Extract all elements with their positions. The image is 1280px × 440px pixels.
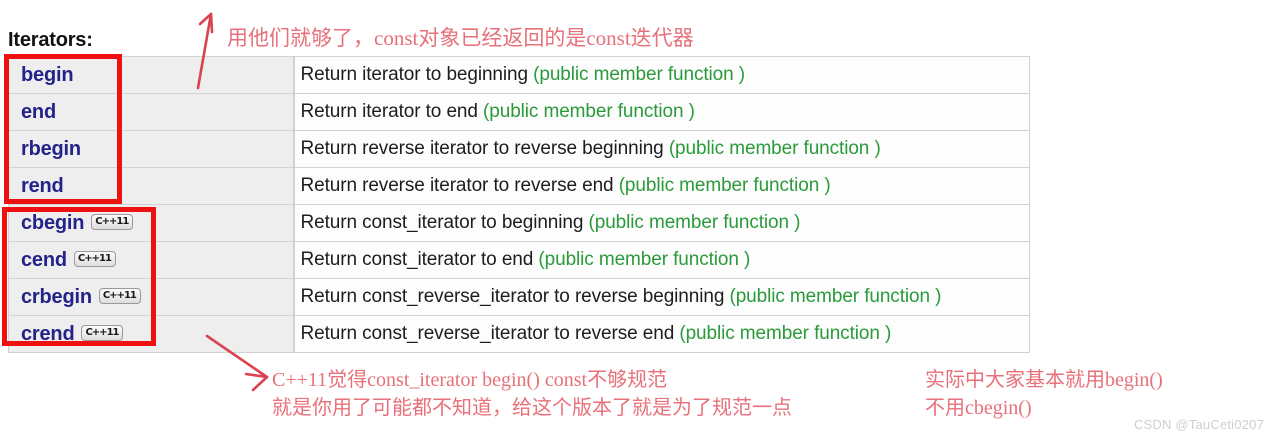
function-link-end[interactable]: end bbox=[21, 101, 56, 123]
description-text: Return iterator to end bbox=[301, 101, 484, 122]
description-meta: (public member function ) bbox=[669, 138, 881, 159]
table-row[interactable]: crendC++11 Return const_reverse_iterator… bbox=[9, 316, 1030, 353]
description-text: Return iterator to beginning bbox=[301, 64, 534, 85]
table-cell-description: Return const_iterator to end (public mem… bbox=[294, 242, 1030, 279]
table-row[interactable]: cbeginC++11 Return const_iterator to beg… bbox=[9, 205, 1030, 242]
description-text: Return const_reverse_iterator to reverse… bbox=[301, 323, 680, 344]
description-meta: (public member function ) bbox=[538, 249, 750, 270]
table-row[interactable]: end Return iterator to end (public membe… bbox=[9, 94, 1030, 131]
description-meta: (public member function ) bbox=[589, 212, 801, 233]
table-cell-function-name[interactable]: end bbox=[9, 94, 294, 131]
table-body: begin Return iterator to beginning (publ… bbox=[9, 57, 1030, 353]
annotation-note-bottom: C++11觉得const_iterator begin() const不够规范 … bbox=[272, 367, 792, 422]
description-text: Return const_reverse_iterator to reverse… bbox=[301, 286, 730, 307]
table-cell-function-name[interactable]: cbeginC++11 bbox=[9, 205, 294, 242]
page-title: Iterators: bbox=[8, 29, 93, 52]
table-row[interactable]: begin Return iterator to beginning (publ… bbox=[9, 57, 1030, 94]
cpp11-badge-icon: C++11 bbox=[99, 288, 141, 304]
function-link-rbegin[interactable]: rbegin bbox=[21, 138, 81, 160]
cpp11-badge-icon: C++11 bbox=[74, 251, 116, 267]
annotation-note-top: 用他们就够了，const对象已经返回的是const迭代器 bbox=[227, 24, 694, 53]
table-cell-description: Return const_reverse_iterator to reverse… bbox=[294, 316, 1030, 353]
function-link-crend[interactable]: crend bbox=[21, 323, 74, 345]
description-text: Return const_iterator to end bbox=[301, 249, 539, 270]
function-link-crbegin[interactable]: crbegin bbox=[21, 286, 92, 308]
annotation-note-right: 实际中大家基本就用begin() 不用cbegin() bbox=[925, 367, 1163, 422]
function-link-begin[interactable]: begin bbox=[21, 64, 73, 86]
function-link-cbegin[interactable]: cbegin bbox=[21, 212, 84, 234]
table-cell-description: Return const_reverse_iterator to reverse… bbox=[294, 279, 1030, 316]
function-link-cend[interactable]: cend bbox=[21, 249, 67, 271]
description-text: Return reverse iterator to reverse end bbox=[301, 175, 619, 196]
table-cell-function-name[interactable]: rbegin bbox=[9, 131, 294, 168]
description-meta: (public member function ) bbox=[533, 64, 745, 85]
description-text: Return const_iterator to beginning bbox=[301, 212, 589, 233]
cpp11-badge-icon: C++11 bbox=[91, 214, 133, 230]
description-meta: (public member function ) bbox=[679, 323, 891, 344]
cpp11-badge-icon: C++11 bbox=[81, 325, 123, 341]
table-cell-description: Return const_iterator to beginning (publ… bbox=[294, 205, 1030, 242]
description-meta: (public member function ) bbox=[729, 286, 941, 307]
table-cell-function-name[interactable]: crendC++11 bbox=[9, 316, 294, 353]
table-cell-function-name[interactable]: crbeginC++11 bbox=[9, 279, 294, 316]
table-cell-description: Return reverse iterator to reverse begin… bbox=[294, 131, 1030, 168]
table-row[interactable]: rbegin Return reverse iterator to revers… bbox=[9, 131, 1030, 168]
watermark: CSDN @TauCeti0207 bbox=[1134, 417, 1264, 432]
table-cell-function-name[interactable]: begin bbox=[9, 57, 294, 94]
table-cell-description: Return reverse iterator to reverse end (… bbox=[294, 168, 1030, 205]
table-cell-description: Return iterator to end (public member fu… bbox=[294, 94, 1030, 131]
iterators-reference-table: begin Return iterator to beginning (publ… bbox=[8, 56, 1030, 353]
table-cell-description: Return iterator to beginning (public mem… bbox=[294, 57, 1030, 94]
table-row[interactable]: rend Return reverse iterator to reverse … bbox=[9, 168, 1030, 205]
table-row[interactable]: crbeginC++11 Return const_reverse_iterat… bbox=[9, 279, 1030, 316]
table-cell-function-name[interactable]: rend bbox=[9, 168, 294, 205]
table-row[interactable]: cendC++11 Return const_iterator to end (… bbox=[9, 242, 1030, 279]
description-meta: (public member function ) bbox=[619, 175, 831, 196]
description-meta: (public member function ) bbox=[483, 101, 695, 122]
description-text: Return reverse iterator to reverse begin… bbox=[301, 138, 669, 159]
table-cell-function-name[interactable]: cendC++11 bbox=[9, 242, 294, 279]
function-link-rend[interactable]: rend bbox=[21, 175, 64, 197]
